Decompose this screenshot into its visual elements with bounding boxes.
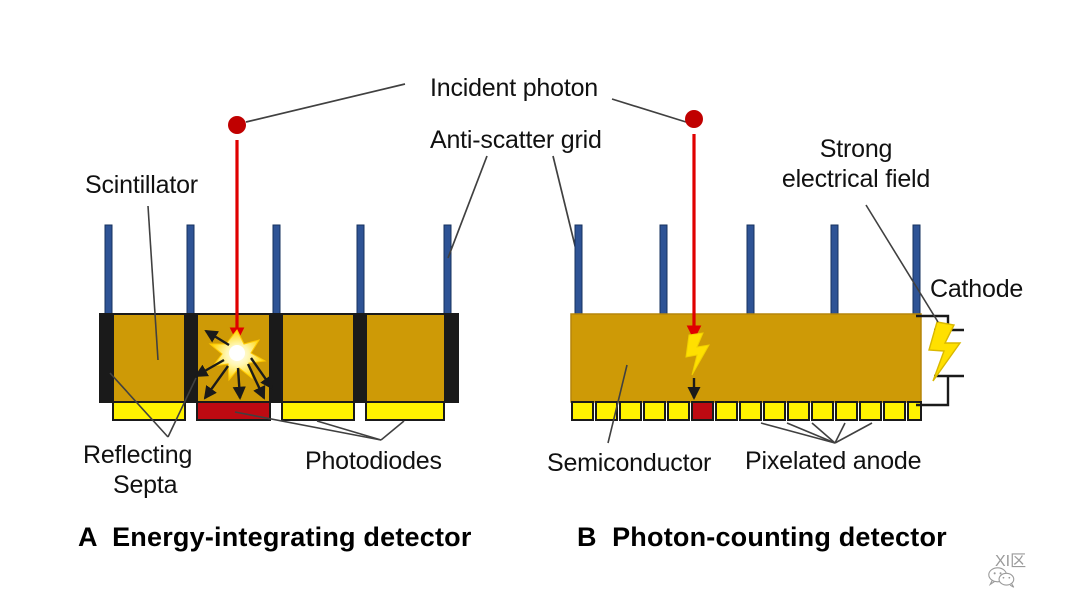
figure-root: Incident photon Anti-scatter grid Scinti… [0, 0, 1080, 608]
caption-panel-a: A Energy-integrating detector [78, 522, 472, 553]
wechat-icon [960, 548, 990, 570]
label-cathode: Cathode [930, 274, 1023, 304]
leader-photodiodes-2 [317, 421, 381, 440]
leader-anode-2 [787, 423, 835, 443]
leader-anti-scatter-right [553, 156, 578, 258]
leader-anti-scatter-left [448, 156, 487, 258]
label-strong-field-line2: electrical field [766, 164, 946, 194]
panel-b-anti-scatter-grid [575, 225, 920, 318]
panel-a-anti-scatter-grid [105, 225, 451, 318]
leader-incident-photon-right [612, 99, 686, 122]
panel-a-incident-photon-ray [228, 116, 246, 340]
label-septa: Septa [113, 470, 177, 500]
label-scintillator: Scintillator [85, 170, 198, 200]
leader-incident-photon-left [246, 84, 405, 122]
top-leader-lines [246, 84, 686, 258]
label-photodiodes: Photodiodes [305, 446, 442, 476]
label-pixelated-anode: Pixelated anode [745, 446, 921, 476]
panel-a-photodiodes [113, 402, 444, 420]
label-anti-scatter-grid: Anti-scatter grid [430, 125, 602, 155]
caption-panel-b: B Photon-counting detector [577, 522, 947, 553]
label-semiconductor: Semiconductor [547, 448, 711, 478]
watermark: XI区 [960, 547, 1026, 571]
anode-pixel-active [692, 402, 713, 420]
panel-a-scintillator-block [100, 314, 458, 402]
label-incident-photon: Incident photon [430, 73, 598, 103]
watermark-text: XI区 [995, 547, 1026, 571]
label-reflecting: Reflecting [83, 440, 192, 470]
label-strong-field-line1: Strong [786, 134, 926, 164]
panel-b-pixelated-anode [572, 402, 921, 420]
panel-b-semiconductor-block [571, 314, 921, 402]
leader-photodiodes-3 [381, 421, 404, 440]
leader-strong-field [866, 205, 938, 322]
panel-b-incident-photon-ray [685, 110, 703, 338]
